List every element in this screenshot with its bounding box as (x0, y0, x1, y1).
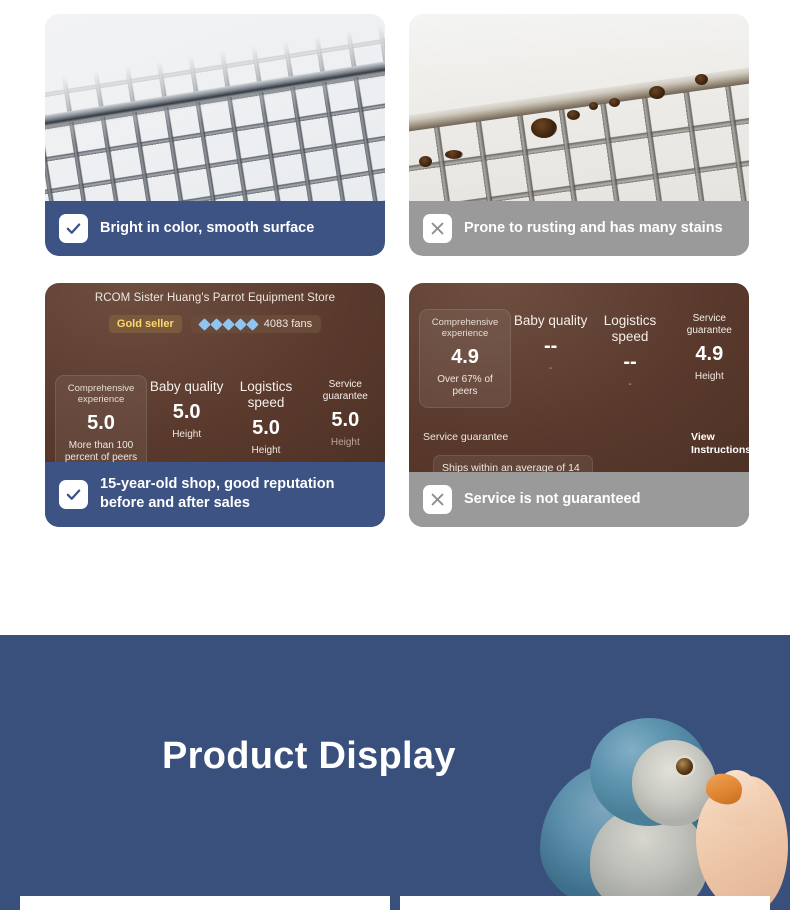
diamond-icon (210, 318, 223, 331)
rating-score: 5.0 (306, 409, 385, 432)
rating-sub: Height (670, 371, 749, 384)
rating-sub: Over 67% of peers (425, 374, 505, 399)
cross-icon (423, 214, 452, 243)
rating-baby-quality: Baby quality -- - (511, 309, 590, 376)
service-guarantee-title: Service guarantee (423, 431, 508, 443)
bottom-panel-left[interactable] (20, 896, 390, 910)
rating-service-guarantee: Service guarantee 5.0 Height (306, 375, 385, 450)
store-ratings-bad: Comprehensive experience 4.9 Over 67% of… (419, 309, 749, 408)
caption-text: Bright in color, smooth surface (100, 219, 314, 239)
rust-spot (589, 102, 598, 110)
rating-logistics-speed: Logistics speed 5.0 Height (226, 375, 305, 458)
rating-label: Baby quality (511, 313, 590, 329)
comparison-grid: Bright in color, smooth surface (0, 0, 790, 625)
rust-spot (445, 150, 463, 159)
rating-label: Comprehensive experience (425, 317, 505, 340)
rating-score: 5.0 (61, 412, 141, 435)
rating-score: -- (511, 335, 590, 358)
caption-bar-positive: 15-year-old shop, good reputation before… (45, 462, 385, 527)
comparison-card-rusty-mesh[interactable]: Prone to rusting and has many stains (409, 14, 749, 256)
rust-spot (567, 110, 580, 120)
caption-bar-positive: Bright in color, smooth surface (45, 201, 385, 256)
check-icon (59, 480, 88, 509)
rating-label: Logistics speed (590, 313, 669, 345)
rating-score: -- (590, 351, 669, 374)
caption-bar-negative: Service is not guaranteed (409, 472, 749, 527)
caption-bar-negative: Prone to rusting and has many stains (409, 201, 749, 256)
diamond-icon (246, 318, 259, 331)
diamond-icon (234, 318, 247, 331)
rating-label: Comprehensive experience (61, 383, 141, 406)
store-name: RCOM Sister Huang's Parrot Equipment Sto… (45, 283, 385, 304)
comparison-card-bad-store[interactable]: Comprehensive experience 4.9 Over 67% of… (409, 283, 749, 527)
rating-sub: Height (226, 445, 305, 458)
page-root: Bright in color, smooth surface (0, 0, 790, 910)
rust-spot (531, 118, 557, 138)
gold-seller-badge: Gold seller (109, 315, 182, 333)
rating-logistics-speed: Logistics speed -- - (590, 309, 669, 392)
rating-sub: Height (306, 437, 385, 450)
rating-sub: Height (147, 429, 226, 442)
store-ratings-good: Comprehensive experience 5.0 More than 1… (55, 375, 385, 474)
fans-pill: 4083 fans (191, 315, 321, 333)
rating-comprehensive: Comprehensive experience 4.9 Over 67% of… (419, 309, 511, 408)
parrot-photo (528, 700, 778, 910)
view-instructions-link[interactable]: View Instructions › (691, 431, 749, 456)
rating-sub: - (511, 363, 590, 376)
rust-spot (419, 156, 432, 167)
comparison-card-clean-mesh[interactable]: Bright in color, smooth surface (45, 14, 385, 256)
rating-label: Logistics speed (226, 379, 305, 411)
rating-label: Service guarantee (306, 379, 385, 403)
caption-text: Prone to rusting and has many stains (464, 219, 723, 239)
rating-label: Service guarantee (670, 313, 749, 337)
diamond-icon (222, 318, 235, 331)
bottom-panel-right[interactable] (400, 896, 770, 910)
comparison-card-good-store[interactable]: RCOM Sister Huang's Parrot Equipment Sto… (45, 283, 385, 527)
rust-spot (649, 86, 665, 99)
parrot-eye (676, 758, 693, 775)
diamond-icon (198, 318, 211, 331)
caption-text: 15-year-old shop, good reputation before… (100, 475, 371, 514)
view-instructions-label: View Instructions (691, 431, 749, 456)
rust-spot (609, 98, 620, 107)
rating-comprehensive: Comprehensive experience 5.0 More than 1… (55, 375, 147, 474)
rating-baby-quality: Baby quality 5.0 Height (147, 375, 226, 442)
rating-score: 5.0 (226, 417, 305, 440)
fans-count: 4083 fans (264, 318, 312, 330)
caption-text: Service is not guaranteed (464, 490, 640, 510)
service-guarantee-row: Service guarantee View Instructions › (423, 431, 749, 456)
rating-service-guarantee: Service guarantee 4.9 Height (670, 309, 749, 384)
check-icon (59, 214, 88, 243)
store-badges: Gold seller 4083 fans (45, 315, 385, 333)
rating-label: Baby quality (147, 379, 226, 395)
cross-icon (423, 485, 452, 514)
rating-sub: - (590, 379, 669, 392)
rating-score: 5.0 (147, 401, 226, 424)
rating-score: 4.9 (670, 343, 749, 366)
rating-score: 4.9 (425, 346, 505, 369)
rust-spot (695, 74, 708, 85)
